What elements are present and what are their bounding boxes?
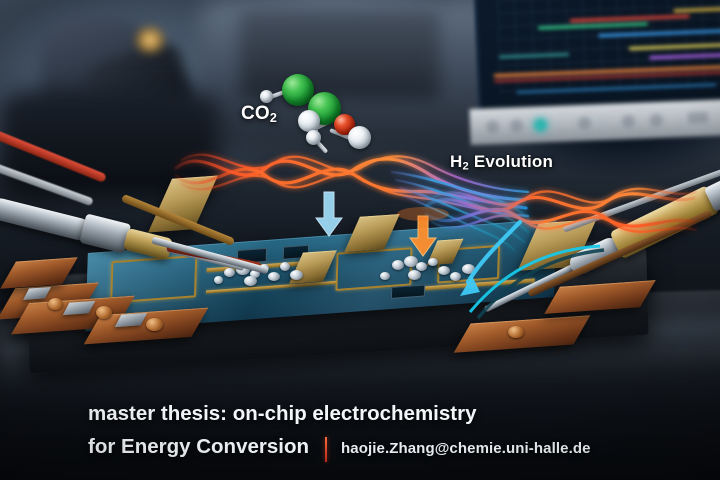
poster-image: CO2 H2 Evolution master thesis: on-chip … <box>0 0 720 480</box>
vignette-overlay <box>0 0 720 480</box>
